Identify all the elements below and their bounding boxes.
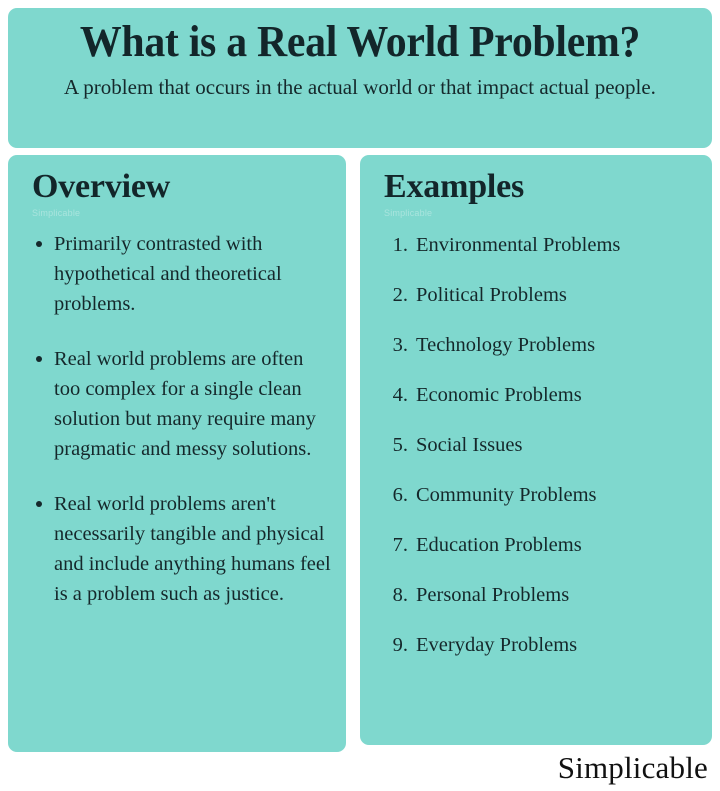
infographic-root: What is a Real World Problem? A problem …	[0, 0, 720, 791]
list-item-number: 1.	[384, 231, 408, 259]
list-item-label: Political Problems	[416, 284, 567, 306]
list-item-number: 4.	[384, 381, 408, 409]
list-item-label: Social Issues	[416, 434, 522, 456]
list-item: 6.Community Problems	[384, 481, 698, 509]
list-item-label: Community Problems	[416, 484, 597, 506]
list-item: Real world problems aren't necessarily t…	[32, 489, 332, 609]
overview-panel: Overview Simplicable Primarily contraste…	[8, 155, 346, 752]
examples-numbered-list: 1.Environmental Problems 2.Political Pro…	[374, 231, 698, 659]
columns-container: Overview Simplicable Primarily contraste…	[0, 155, 720, 755]
list-item-number: 9.	[384, 631, 408, 659]
overview-watermark: Simplicable	[22, 208, 332, 219]
list-item-number: 7.	[384, 531, 408, 559]
list-item-number: 6.	[384, 481, 408, 509]
examples-panel: Examples Simplicable 1.Environmental Pro…	[360, 155, 712, 745]
list-item: 2.Political Problems	[384, 281, 698, 309]
list-item-label: Education Problems	[416, 534, 582, 556]
page-title: What is a Real World Problem?	[41, 12, 679, 68]
examples-watermark: Simplicable	[374, 208, 698, 219]
list-item: 4.Economic Problems	[384, 381, 698, 409]
list-item: Real world problems are often too comple…	[32, 344, 332, 464]
list-item-number: 8.	[384, 581, 408, 609]
list-item-label: Everyday Problems	[416, 634, 577, 656]
list-item: 7.Education Problems	[384, 531, 698, 559]
list-item: 9.Everyday Problems	[384, 631, 698, 659]
list-item-label: Economic Problems	[416, 384, 582, 406]
brand-logo: Simplicable	[558, 749, 708, 787]
list-item-number: 3.	[384, 331, 408, 359]
list-item: 3.Technology Problems	[384, 331, 698, 359]
list-item: 1.Environmental Problems	[384, 231, 698, 259]
overview-bullet-list: Primarily contrasted with hypothetical a…	[22, 229, 332, 609]
list-item-label: Environmental Problems	[416, 234, 620, 256]
overview-heading: Overview	[22, 165, 332, 207]
examples-heading: Examples	[374, 165, 698, 207]
list-item: 8.Personal Problems	[384, 581, 698, 609]
list-item-number: 5.	[384, 431, 408, 459]
list-item: 5.Social Issues	[384, 431, 698, 459]
header-panel: What is a Real World Problem? A problem …	[8, 8, 712, 148]
list-item-number: 2.	[384, 281, 408, 309]
page-subtitle: A problem that occurs in the actual worl…	[30, 72, 690, 102]
list-item-label: Technology Problems	[416, 334, 595, 356]
list-item: Primarily contrasted with hypothetical a…	[32, 229, 332, 319]
list-item-label: Personal Problems	[416, 584, 569, 606]
